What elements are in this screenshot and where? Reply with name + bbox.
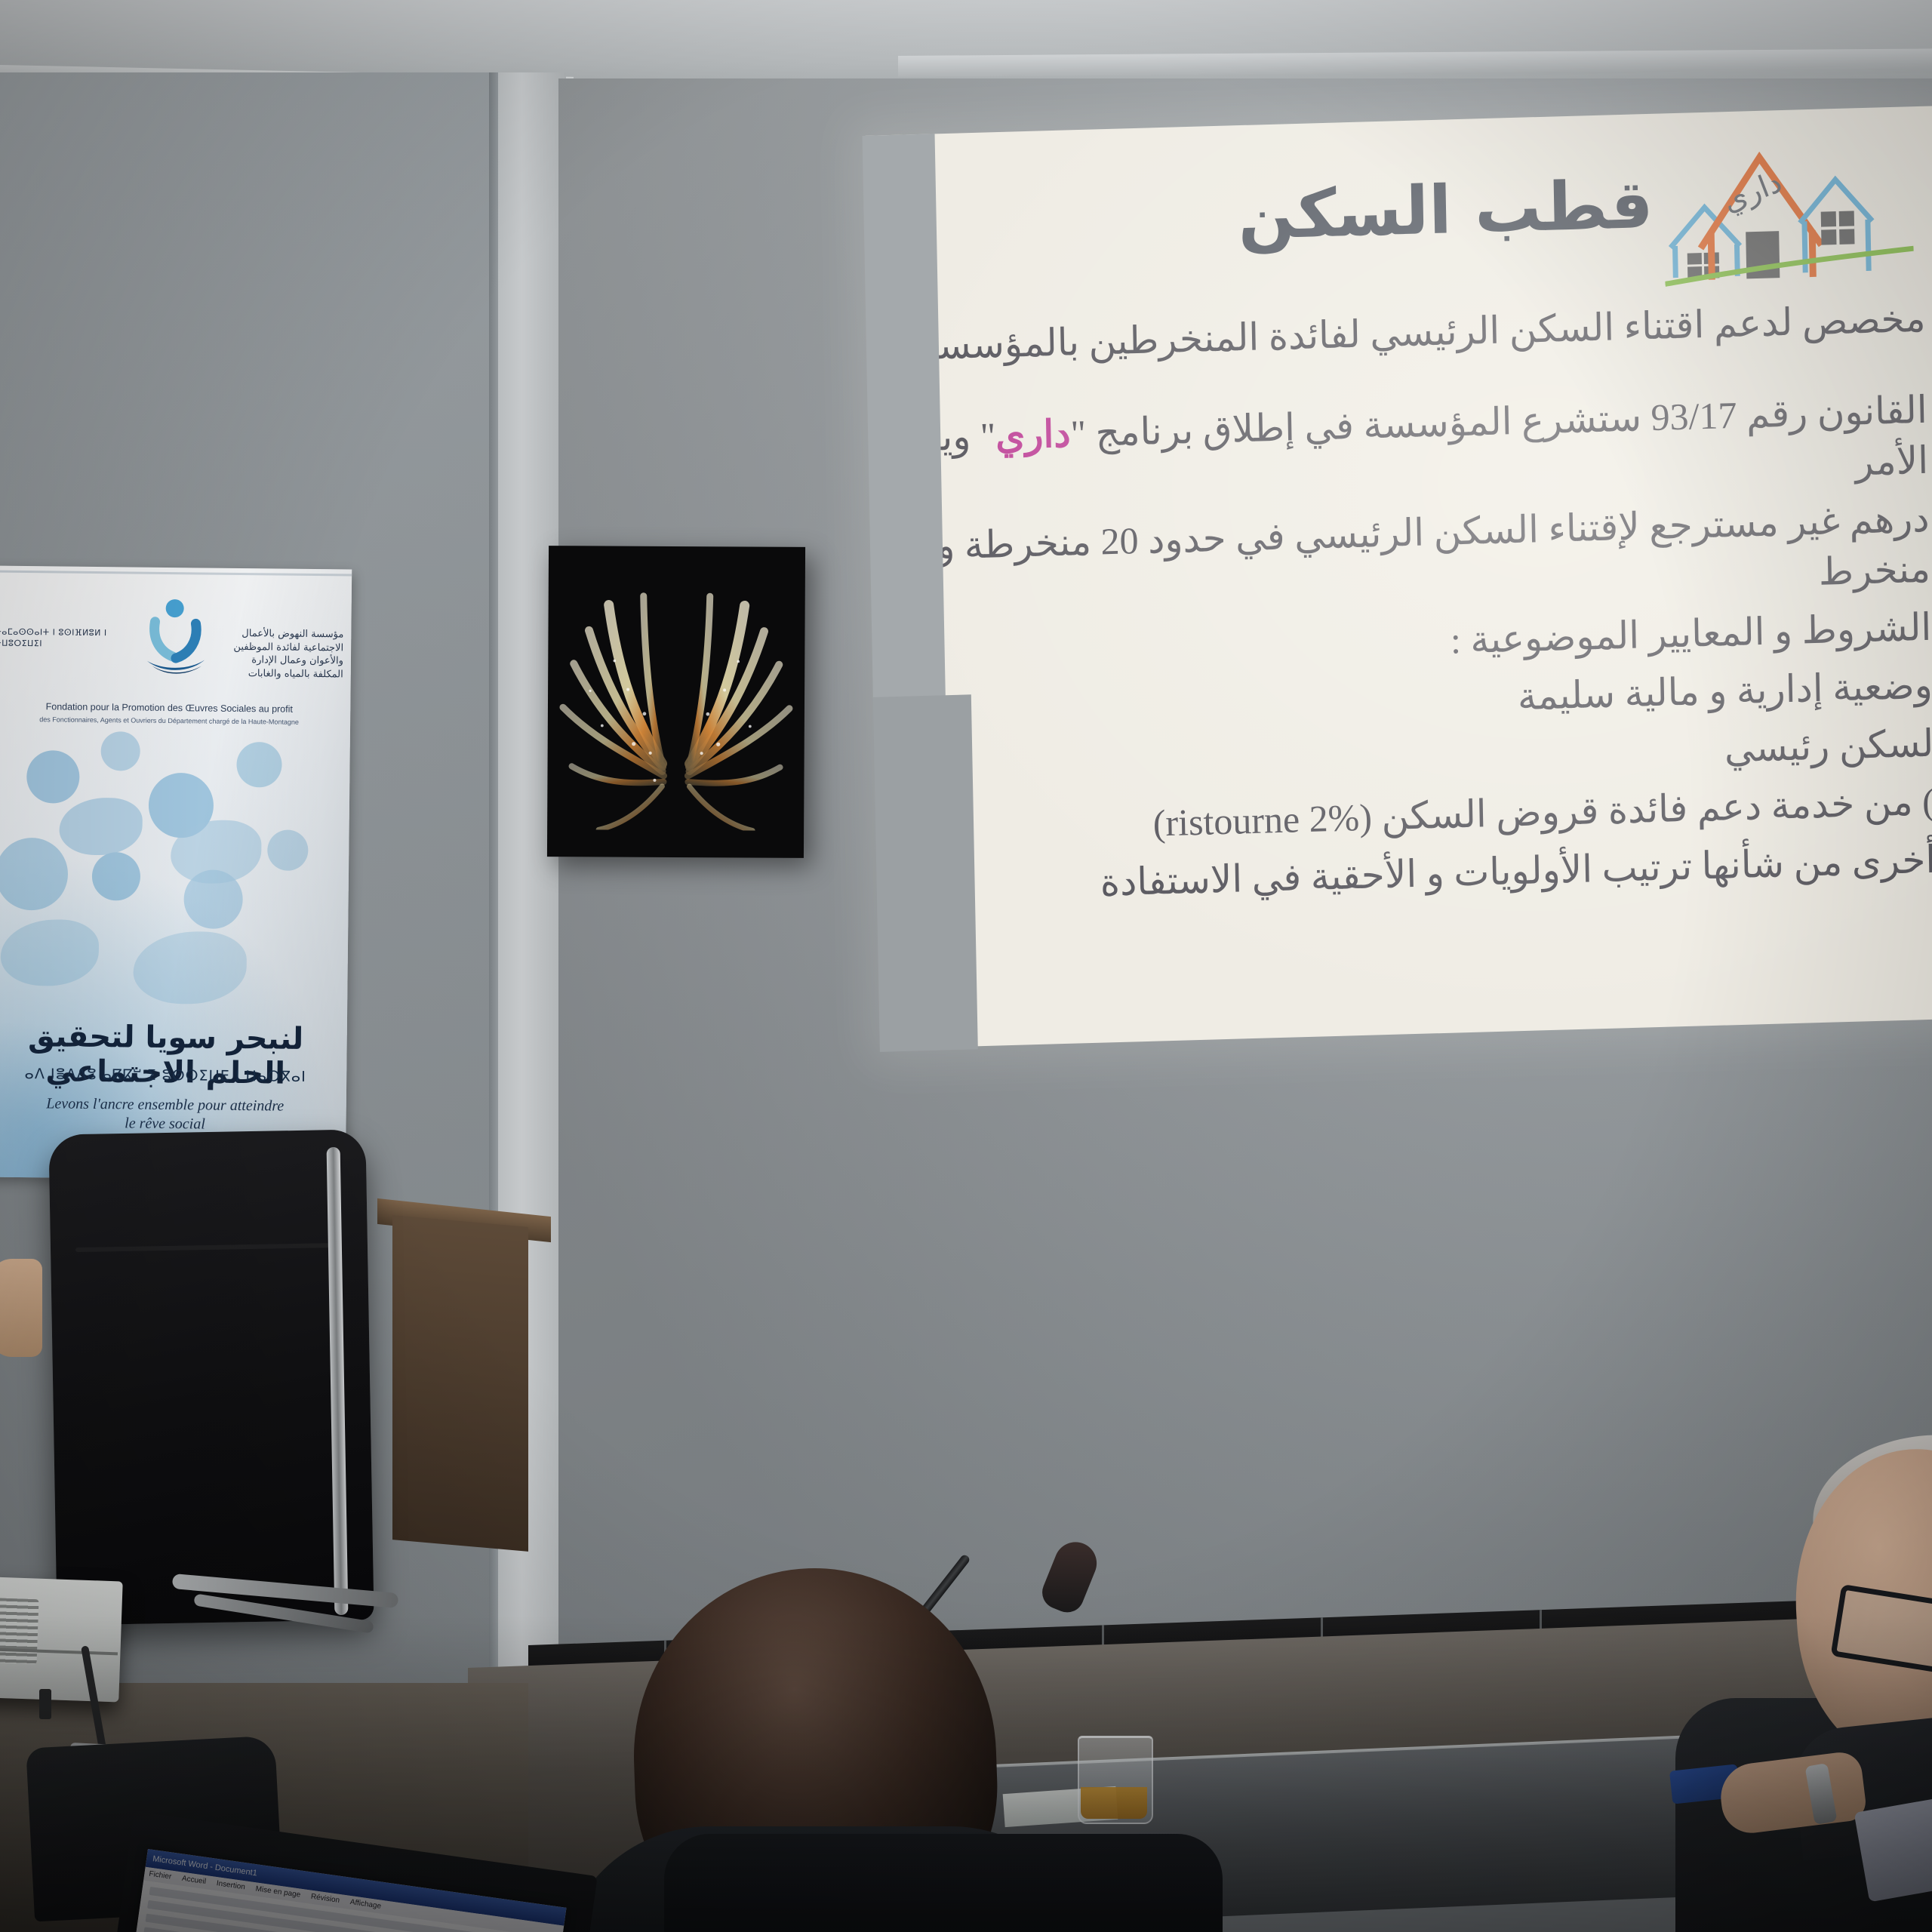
slide-line-3: درهم غير مسترجع لإقتناء السكن الرئيسي في…: [865, 494, 1930, 624]
laptop-menu-1[interactable]: Accueil: [181, 1875, 206, 1886]
slide-body-text: مخصص لدعم اقتناء السكن الرئيسي لفائدة ال…: [861, 294, 1932, 922]
framed-artwork: [547, 546, 805, 858]
slide-highlight-dari: داري: [995, 412, 1071, 457]
hand-left-edge: [0, 1259, 42, 1357]
office-chair: [48, 1129, 374, 1625]
house-group-icon: داري: [1662, 114, 1914, 287]
left-wing-icon: [555, 565, 669, 830]
slide-logo: داري قطب السكن: [1236, 114, 1914, 299]
right-wing-icon: [683, 566, 798, 831]
laptop-menu-0[interactable]: Fichier: [149, 1870, 172, 1881]
rollup-banner: مؤسسة النهوض بالأعمال الاجتماعية لفائدة …: [0, 566, 352, 1181]
laptop-menu-2[interactable]: Insertion: [216, 1879, 246, 1891]
projector-foot: [39, 1689, 51, 1719]
slide-french-note: (ristourne 2%): [1152, 796, 1372, 844]
projected-slide: داري قطب السكن مخصص لدعم اقتناء السكن ال…: [866, 106, 1932, 1049]
side-table: [392, 1215, 528, 1552]
slide-content: داري قطب السكن مخصص لدعم اقتناء السكن ال…: [866, 106, 1932, 1049]
slide-logo-title: قطب السكن: [1238, 171, 1654, 249]
laptop-menu-5[interactable]: Affichage: [349, 1898, 382, 1911]
conference-room-photo: داري قطب السكن مخصص لدعم اقتناء السكن ال…: [0, 0, 1932, 1932]
attendee-center-chairback: [664, 1834, 1223, 1932]
projector-vent-icon: [0, 1598, 38, 1664]
laptop-menu-4[interactable]: Révision: [310, 1893, 340, 1905]
projection-left-mask-upper: [863, 134, 946, 699]
cup-liquid: [1081, 1787, 1147, 1819]
banner-shadow-overlay: [0, 566, 352, 1181]
projection-left-mask-lower: [873, 694, 978, 1052]
houses-svg: [1662, 114, 1914, 287]
